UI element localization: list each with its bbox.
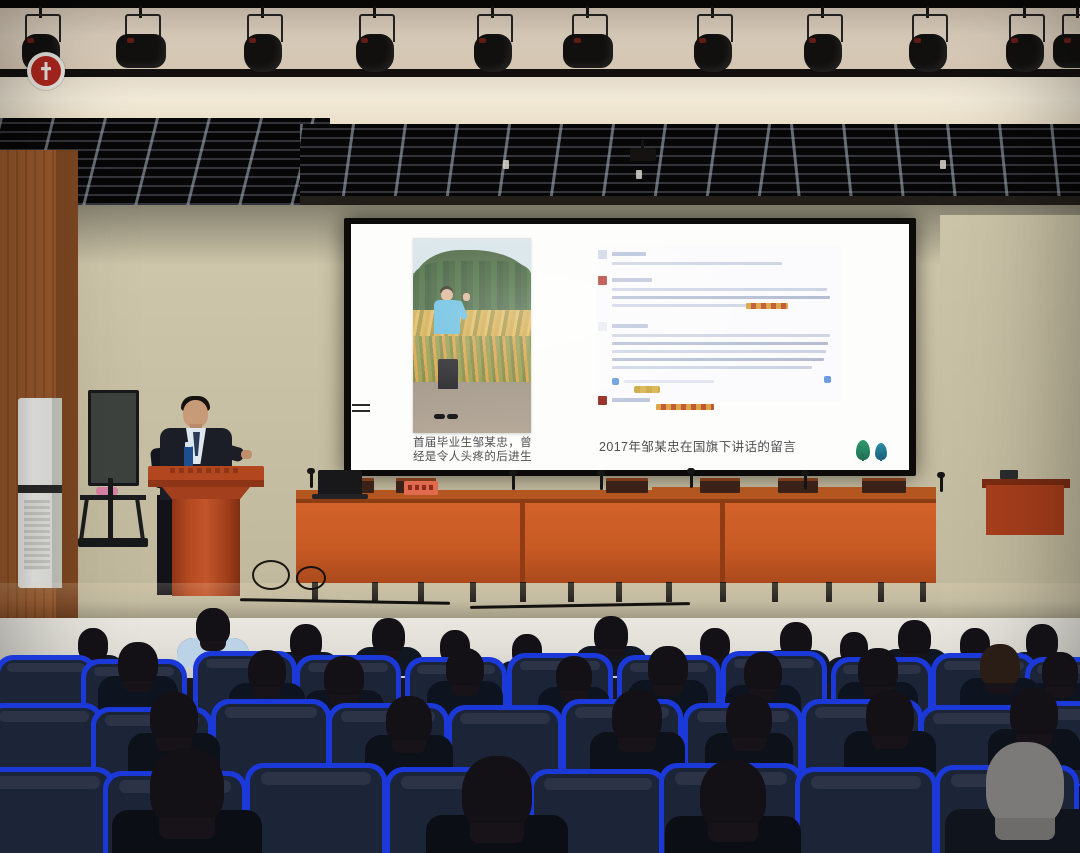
ceiling-slat [790, 137, 1080, 139]
water-bottle [184, 446, 193, 468]
screen-side-marks [352, 404, 370, 416]
audience-member [648, 646, 688, 690]
post-text-line [612, 334, 830, 337]
post-sticker [634, 386, 660, 393]
photo-person-shoe [434, 414, 445, 419]
laptop-base [312, 494, 368, 499]
audience-member [118, 642, 158, 686]
cable-loop [296, 566, 326, 590]
audience-member [462, 756, 532, 832]
ceiling-slat [300, 173, 800, 175]
audience-member [866, 690, 914, 742]
audience-member [858, 648, 898, 692]
ceiling-slat [300, 155, 800, 157]
slide-caption-right: 2017年邹某忠在国旗下讲话的留言 [599, 440, 849, 454]
ceiling-slat [300, 182, 800, 184]
auditorium-photo: 首届毕业生邹某忠，曾 经是令人头疼的后进生 2017年邹某忠在国旗下讲话的留言 [0, 0, 1080, 853]
auditorium-seat [250, 768, 382, 853]
microphone-stem [690, 472, 693, 488]
audience-member [556, 656, 592, 696]
ceiling-slat [790, 182, 1080, 184]
ceiling-slat [790, 128, 1080, 130]
ceiling-slat [790, 191, 1080, 193]
slide-post-screenshot [596, 246, 841, 401]
post-avatar [598, 276, 607, 285]
table-nameplate [700, 478, 740, 493]
microphone-head [937, 472, 945, 478]
ceiling-slat [790, 164, 1080, 166]
photo-treeline [413, 261, 531, 316]
pink-object [96, 487, 118, 495]
audience-member [726, 694, 772, 744]
microphone-head [801, 470, 809, 476]
photo-person-pants [438, 359, 458, 389]
audience-member [446, 648, 484, 690]
ceiling-slat [790, 146, 1080, 148]
audience-member [196, 608, 230, 646]
projector [630, 148, 656, 161]
monitor-cart-pole [108, 478, 113, 540]
projection-screen: 首届毕业生邹某忠，曾 经是令人头疼的后进生 2017年邹某忠在国旗下讲话的留言 [351, 224, 909, 470]
ceiling-clip-icon [503, 160, 509, 169]
post-text-line [612, 262, 782, 265]
like-icon [612, 378, 619, 385]
auditorium-seat [800, 772, 932, 853]
photo-person-hand [463, 293, 470, 301]
ceiling-clip-icon [940, 160, 946, 169]
ceiling-clip-icon [636, 170, 642, 179]
audience-member [744, 652, 782, 694]
table-panel-divider [520, 503, 525, 583]
table-nameplate [862, 478, 906, 493]
stage-spotlight [118, 14, 164, 72]
audience-member [150, 748, 224, 828]
post-text-line [612, 350, 826, 353]
display-monitor [88, 390, 139, 486]
post-author-name [612, 278, 652, 282]
audience-member [594, 616, 628, 654]
post-text-line [612, 288, 827, 291]
audience-member [986, 742, 1064, 828]
slide-caption-left: 首届毕业生邹某忠，曾 经是令人头疼的后进生 [413, 436, 543, 464]
ceiling-slat [300, 164, 800, 166]
podium [160, 466, 252, 596]
side-lectern [986, 485, 1064, 535]
stage-spotlight [690, 14, 736, 72]
air-conditioner-vent [24, 500, 50, 570]
ceiling-slat [790, 155, 1080, 157]
photo-person-head [441, 289, 453, 301]
ceiling-slat [300, 137, 800, 139]
microphone-stem [804, 474, 807, 490]
air-conditioner-band [18, 485, 62, 493]
stage-spotlight [905, 14, 951, 72]
post-author-name [612, 398, 650, 402]
podium-column [172, 499, 240, 596]
podium-engraved-text [170, 468, 242, 473]
microphone-head [307, 468, 315, 474]
stage-spotlight [240, 14, 286, 72]
post-text-line [612, 342, 828, 345]
photo-person-shoe [447, 414, 458, 419]
water-bottle-cap [185, 442, 192, 447]
auditorium-seat [0, 772, 110, 853]
tree-icon [875, 443, 887, 460]
table-panel-divider [720, 503, 725, 583]
air-conditioner-side [52, 398, 62, 588]
microphone-head [509, 470, 517, 476]
post-avatar [598, 322, 607, 331]
microphone-head [687, 468, 695, 474]
cable-loop [252, 560, 290, 590]
post-emoji [746, 303, 788, 309]
conference-table-front [296, 503, 936, 583]
stage-wall-right [940, 215, 1080, 615]
table-nameplate [606, 478, 648, 493]
ceiling-slat [790, 173, 1080, 175]
audience-member [150, 692, 198, 744]
microphone-stem [512, 474, 515, 490]
side-table-object [1000, 470, 1018, 479]
post-author-name [612, 324, 648, 328]
microphone-stem [310, 472, 313, 488]
audience-member [980, 644, 1020, 688]
stage-spotlight [565, 14, 611, 72]
stage-spotlight [800, 14, 846, 72]
post-text-line [612, 358, 824, 361]
post-avatar [598, 250, 607, 259]
post-author-name [612, 252, 646, 256]
photo-pavement [413, 382, 531, 433]
thumbs-up-icon [824, 376, 831, 383]
post-text-line [612, 366, 812, 369]
post-avatar [598, 396, 607, 405]
slide-photo [413, 238, 531, 433]
audience-member [612, 690, 662, 744]
post-text-line [612, 304, 762, 307]
table-name-card [404, 481, 438, 495]
audience-member [386, 696, 432, 746]
ceiling-slat [300, 146, 800, 148]
audience-member [324, 656, 364, 700]
table-nameplate [778, 478, 818, 493]
microphone-stem [600, 474, 603, 490]
podium-top-edge [148, 480, 264, 487]
photo-flower-field-front [413, 336, 531, 387]
audience-member [1042, 652, 1078, 692]
monitor-cart-base [78, 538, 148, 547]
post-text-line [612, 296, 830, 299]
audience-member [372, 618, 405, 655]
stage-spotlight [1002, 14, 1048, 72]
post-emoji [656, 404, 714, 410]
microphone-stem [940, 476, 943, 492]
stage-floor-reflection [0, 583, 1080, 623]
stage-spotlight [1055, 14, 1080, 72]
audience-member [898, 620, 931, 657]
tree-icon [856, 440, 870, 460]
audience-member [248, 650, 286, 692]
audience-member [1010, 688, 1058, 740]
ceiling-slat [0, 140, 330, 142]
microphone-head [597, 470, 605, 476]
stage-spotlight [352, 14, 398, 72]
stage-spotlight [470, 14, 516, 72]
ceiling-slat [300, 128, 800, 130]
speaker-hand [241, 450, 252, 459]
audience-member [700, 760, 766, 832]
post-meta-line [624, 380, 714, 383]
laptop [318, 470, 362, 496]
